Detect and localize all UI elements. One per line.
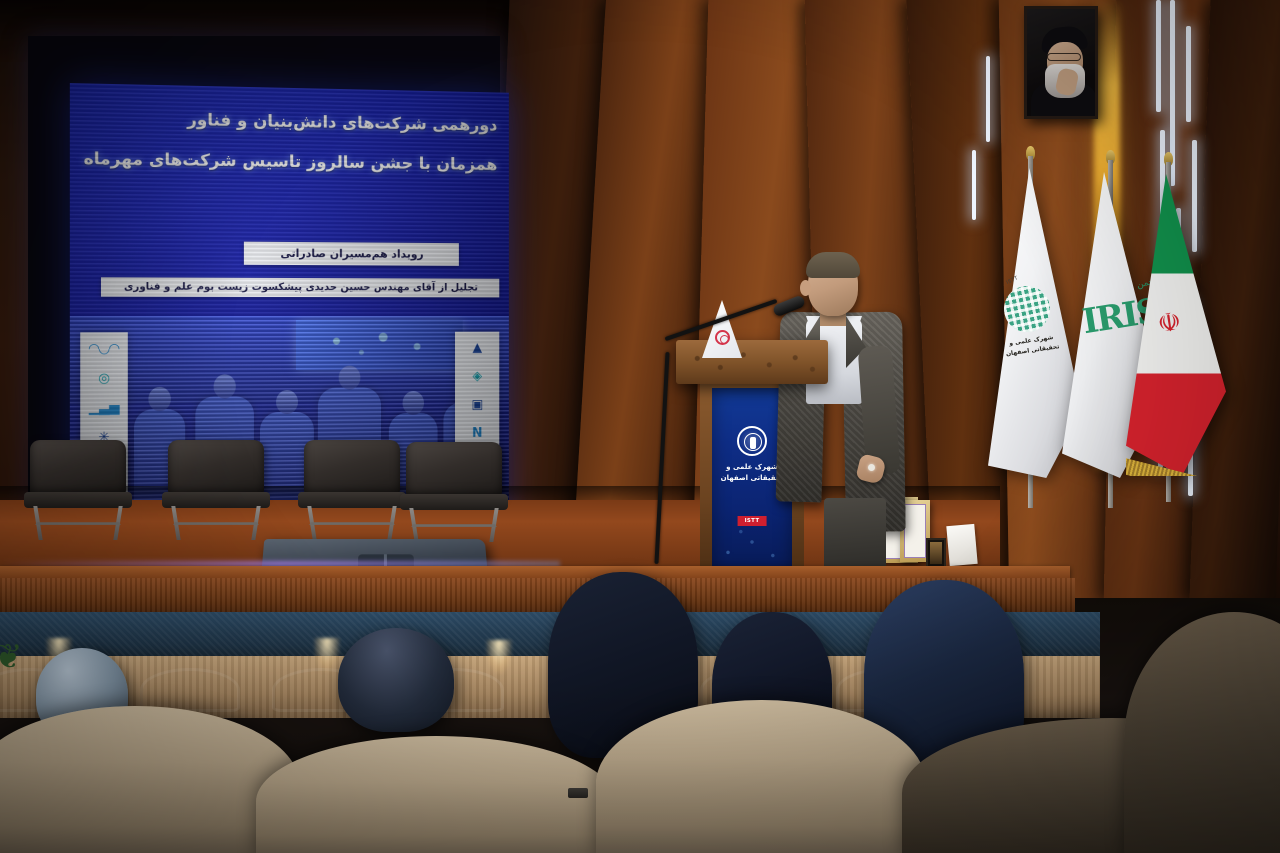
podium-top [676, 340, 828, 384]
podium-desk-flag [702, 300, 744, 362]
framed-leader-portrait [1024, 6, 1098, 119]
led-strip-10 [972, 150, 976, 220]
stage-chair-3 [296, 440, 408, 528]
led-strip-1 [1156, 0, 1161, 112]
glasses-icon [1047, 53, 1081, 61]
conference-hall-photo: دورهمی شرکت‌های دانش‌بنیان و فناور همزما… [0, 0, 1280, 853]
istt-emblem-icon [737, 426, 767, 456]
downlight-2 [314, 638, 340, 672]
award-paper-sheet [946, 524, 977, 566]
potted-plant-icon: ❦ [0, 640, 36, 686]
stage-chair-1 [22, 440, 134, 528]
led-strip-9 [986, 56, 990, 142]
downlight-3 [486, 640, 512, 674]
seat-number-tag-1 [568, 788, 588, 798]
iran-emblem-icon: ☫ [1156, 308, 1190, 342]
speaker-hair [806, 252, 860, 278]
stage-chair-4 [398, 442, 510, 530]
stage-chair-2 [160, 440, 272, 528]
desk-flag-seal-icon [715, 330, 730, 345]
ring-icon [868, 464, 875, 471]
attendee-dark-hair [338, 628, 454, 732]
wall-arabesque-2 [140, 668, 240, 712]
iran-national-flag: ☫ [1126, 174, 1226, 476]
award-certificate-small [926, 538, 946, 568]
led-strip-3 [1186, 26, 1191, 122]
